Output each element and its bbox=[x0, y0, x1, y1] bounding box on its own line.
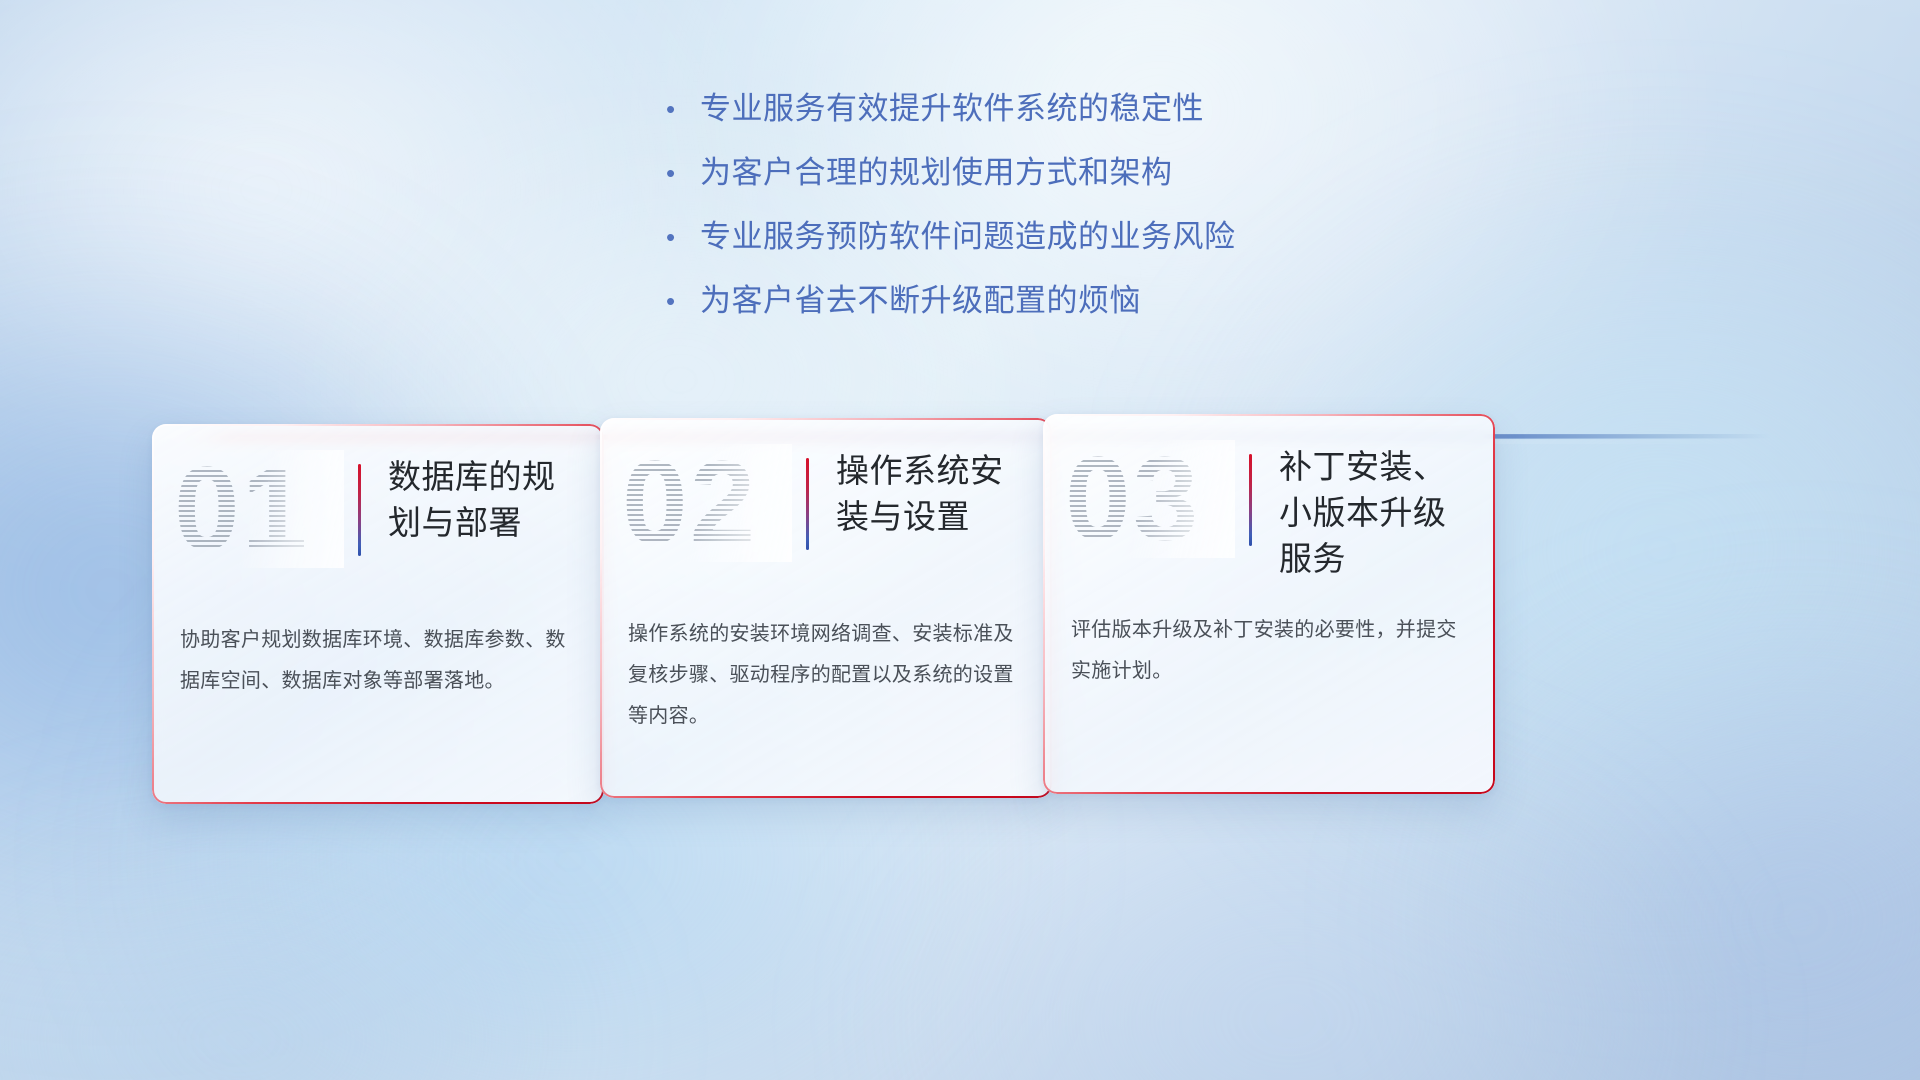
bullet-text: 为客户合理的规划使用方式和架构 bbox=[700, 156, 1173, 190]
card-title: 补丁安装、小版本升级服务 bbox=[1279, 444, 1477, 582]
card-body-text: 评估版本升级及补丁安装的必要性，并提交实施计划。 bbox=[1071, 610, 1469, 692]
card-title: 数据库的规划与部署 bbox=[388, 454, 586, 546]
card-number-watermark: 02 bbox=[622, 444, 792, 562]
card-title: 操作系统安装与设置 bbox=[836, 448, 1034, 540]
card-accent-bar bbox=[358, 464, 361, 556]
bullet-text: 专业服务有效提升软件系统的稳定性 bbox=[700, 92, 1204, 126]
card-body-text: 操作系统的安装环境网络调查、安装标准及复核步骤、驱动程序的配置以及系统的设置等内… bbox=[628, 614, 1026, 737]
bullet-item: • 为客户合理的规划使用方式和架构 bbox=[666, 156, 1486, 220]
bullet-marker-icon: • bbox=[666, 220, 700, 254]
card-inner: 03 补丁安装、小版本升级服务 评估版本升级及补丁安装的必要性，并提交实施计划。 bbox=[1043, 414, 1495, 794]
bullet-item: • 为客户省去不断升级配置的烦恼 bbox=[666, 284, 1486, 348]
bullet-marker-icon: • bbox=[666, 156, 700, 190]
card-accent-bar bbox=[1249, 454, 1252, 546]
bullet-marker-icon: • bbox=[666, 284, 700, 318]
service-card-03[interactable]: 03 补丁安装、小版本升级服务 评估版本升级及补丁安装的必要性，并提交实施计划。 bbox=[1043, 414, 1495, 794]
card-body-text: 协助客户规划数据库环境、数据库参数、数据库空间、数据库对象等部署落地。 bbox=[180, 620, 578, 702]
card-number-watermark: 03 bbox=[1065, 440, 1235, 558]
card-accent-bar bbox=[806, 458, 809, 550]
card-number-watermark: 01 bbox=[174, 450, 344, 568]
bullet-marker-icon: • bbox=[666, 92, 700, 126]
slide-canvas: • 专业服务有效提升软件系统的稳定性 • 为客户合理的规划使用方式和架构 • 专… bbox=[0, 0, 1920, 1080]
benefits-bullet-list: • 专业服务有效提升软件系统的稳定性 • 为客户合理的规划使用方式和架构 • 专… bbox=[666, 92, 1486, 348]
card-header: 02 操作系统安装与设置 bbox=[600, 418, 1052, 606]
bullet-text: 专业服务预防软件问题造成的业务风险 bbox=[700, 220, 1236, 254]
service-card-01[interactable]: 01 数据库的规划与部署 协助客户规划数据库环境、数据库参数、数据库空间、数据库… bbox=[152, 424, 604, 804]
card-inner: 02 操作系统安装与设置 操作系统的安装环境网络调查、安装标准及复核步骤、驱动程… bbox=[600, 418, 1052, 798]
bullet-item: • 专业服务预防软件问题造成的业务风险 bbox=[666, 220, 1486, 284]
card-inner: 01 数据库的规划与部署 协助客户规划数据库环境、数据库参数、数据库空间、数据库… bbox=[152, 424, 604, 804]
bullet-item: • 专业服务有效提升软件系统的稳定性 bbox=[666, 92, 1486, 156]
bullet-text: 为客户省去不断升级配置的烦恼 bbox=[700, 284, 1141, 318]
card-header: 01 数据库的规划与部署 bbox=[152, 424, 604, 612]
card-header: 03 补丁安装、小版本升级服务 bbox=[1043, 414, 1495, 602]
service-card-02[interactable]: 02 操作系统安装与设置 操作系统的安装环境网络调查、安装标准及复核步骤、驱动程… bbox=[600, 418, 1052, 798]
